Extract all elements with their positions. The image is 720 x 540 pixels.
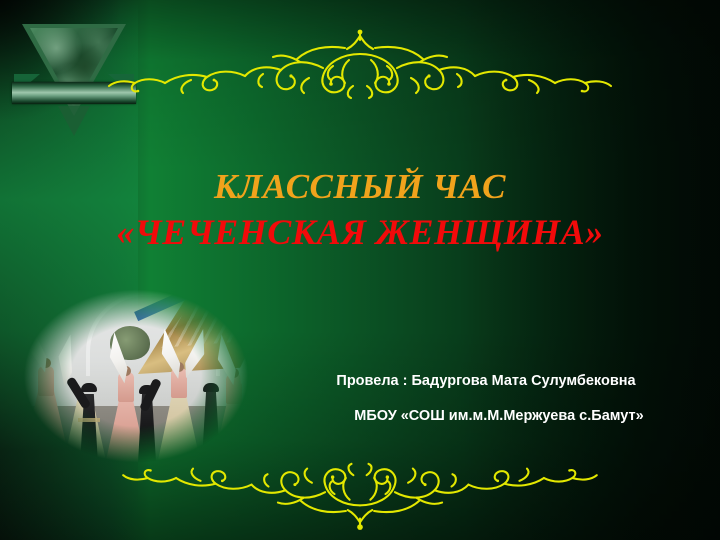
photo-dancer-belt xyxy=(78,418,100,422)
photo-dancer-woman xyxy=(156,392,202,470)
photo-dancer-torso xyxy=(118,372,134,402)
presenter-line: Провела : Бадургова Мата Сулумбековна xyxy=(272,372,700,390)
slide-title-line-1: КЛАССНЫЙ ЧАС xyxy=(0,168,720,206)
slide-title-block: КЛАССНЫЙ ЧАС «ЧЕЧЕНСКАЯ ЖЕНЩИНА» xyxy=(0,168,720,252)
slide-title-line-2: «ЧЕЧЕНСКАЯ ЖЕНЩИНА» xyxy=(0,212,720,252)
photo-dancer-papakha xyxy=(81,383,97,392)
slide-subtitle-block: Провела : Бадургова Мата Сулумбековна МБ… xyxy=(272,372,700,425)
chechen-folk-dancers-photo xyxy=(14,282,258,470)
photo-dancer-woman xyxy=(212,398,256,470)
school-line: МБОУ «СОШ им.м.М.Мержуева с.Бамут» xyxy=(272,407,700,425)
emblem-triangle-tail xyxy=(58,106,90,136)
photo-scene xyxy=(14,282,258,470)
photo-dancer-woman xyxy=(20,388,72,470)
photo-dancer-torso xyxy=(38,366,54,396)
top-flourish-ornament-icon xyxy=(95,26,625,104)
photo-dancer-papakha xyxy=(203,383,219,392)
presentation-slide: КЛАССНЫЙ ЧАС «ЧЕЧЕНСКАЯ ЖЕНЩИНА» Провела… xyxy=(0,0,720,540)
